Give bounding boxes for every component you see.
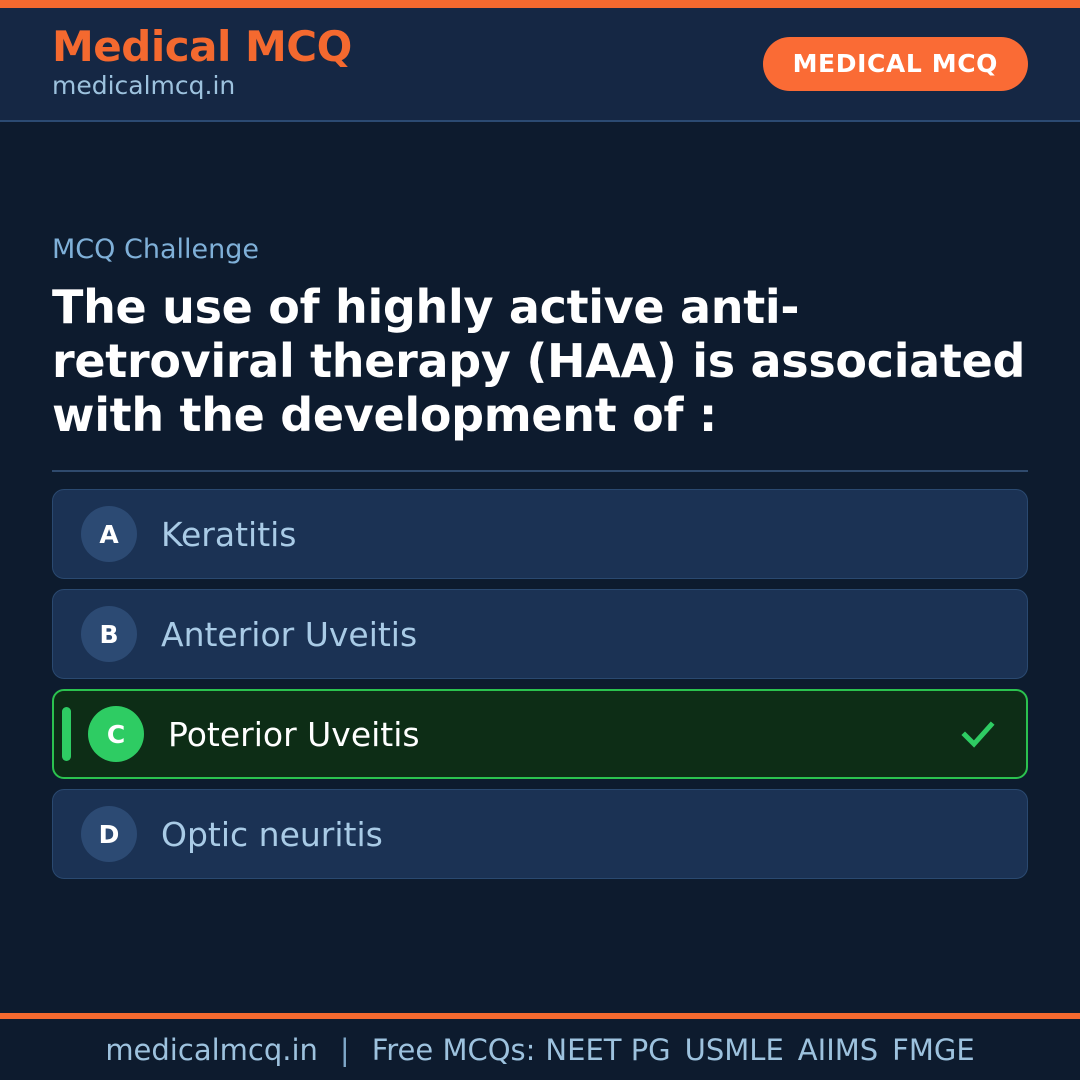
- header-badge: MEDICAL MCQ: [763, 37, 1028, 91]
- brand-title: Medical MCQ: [52, 25, 352, 69]
- top-accent-bar: [0, 0, 1080, 8]
- option-badge-b: B: [81, 606, 137, 662]
- footer-exam-neet-pg[interactable]: NEET PG: [545, 1033, 670, 1067]
- option-label-b: Anterior Uveitis: [161, 618, 417, 651]
- option-row-c[interactable]: C Poterior Uveitis: [52, 689, 1028, 779]
- option-row-d[interactable]: D Optic neuritis: [52, 789, 1028, 879]
- option-row-b[interactable]: B Anterior Uveitis: [52, 589, 1028, 679]
- correct-accent-bar: [62, 707, 71, 761]
- footer-label: Free MCQs:: [372, 1033, 536, 1067]
- option-label-d: Optic neuritis: [161, 818, 383, 851]
- footer-content: medicalmcq.in | Free MCQs: NEET PG USMLE…: [105, 1033, 974, 1067]
- check-icon: [958, 714, 998, 754]
- main-content: MCQ Challenge The use of highly active a…: [0, 236, 1080, 879]
- option-label-a: Keratitis: [161, 518, 297, 551]
- footer-exam-fmge[interactable]: FMGE: [892, 1033, 975, 1067]
- option-label-c: Poterior Uveitis: [168, 718, 420, 751]
- options-list: A Keratitis B Anterior Uveitis C Poterio…: [52, 489, 1028, 879]
- brand-block: Medical MCQ medicalmcq.in: [52, 25, 352, 102]
- option-badge-a: A: [81, 506, 137, 562]
- app-footer: medicalmcq.in | Free MCQs: NEET PG USMLE…: [0, 1013, 1080, 1080]
- option-badge-c: C: [88, 706, 144, 762]
- option-badge-d: D: [81, 806, 137, 862]
- question-text: The use of highly active anti-retroviral…: [52, 281, 1028, 442]
- footer-separator: |: [340, 1033, 350, 1067]
- question-divider: [52, 470, 1028, 472]
- brand-subtitle: medicalmcq.in: [52, 70, 352, 101]
- footer-exam-usmle[interactable]: USMLE: [685, 1033, 784, 1067]
- app-header: Medical MCQ medicalmcq.in MEDICAL MCQ: [0, 8, 1080, 122]
- option-row-a[interactable]: A Keratitis: [52, 489, 1028, 579]
- footer-site-link[interactable]: medicalmcq.in: [105, 1033, 318, 1067]
- footer-exam-aiims[interactable]: AIIMS: [798, 1033, 878, 1067]
- kicker-label: MCQ Challenge: [52, 236, 1028, 263]
